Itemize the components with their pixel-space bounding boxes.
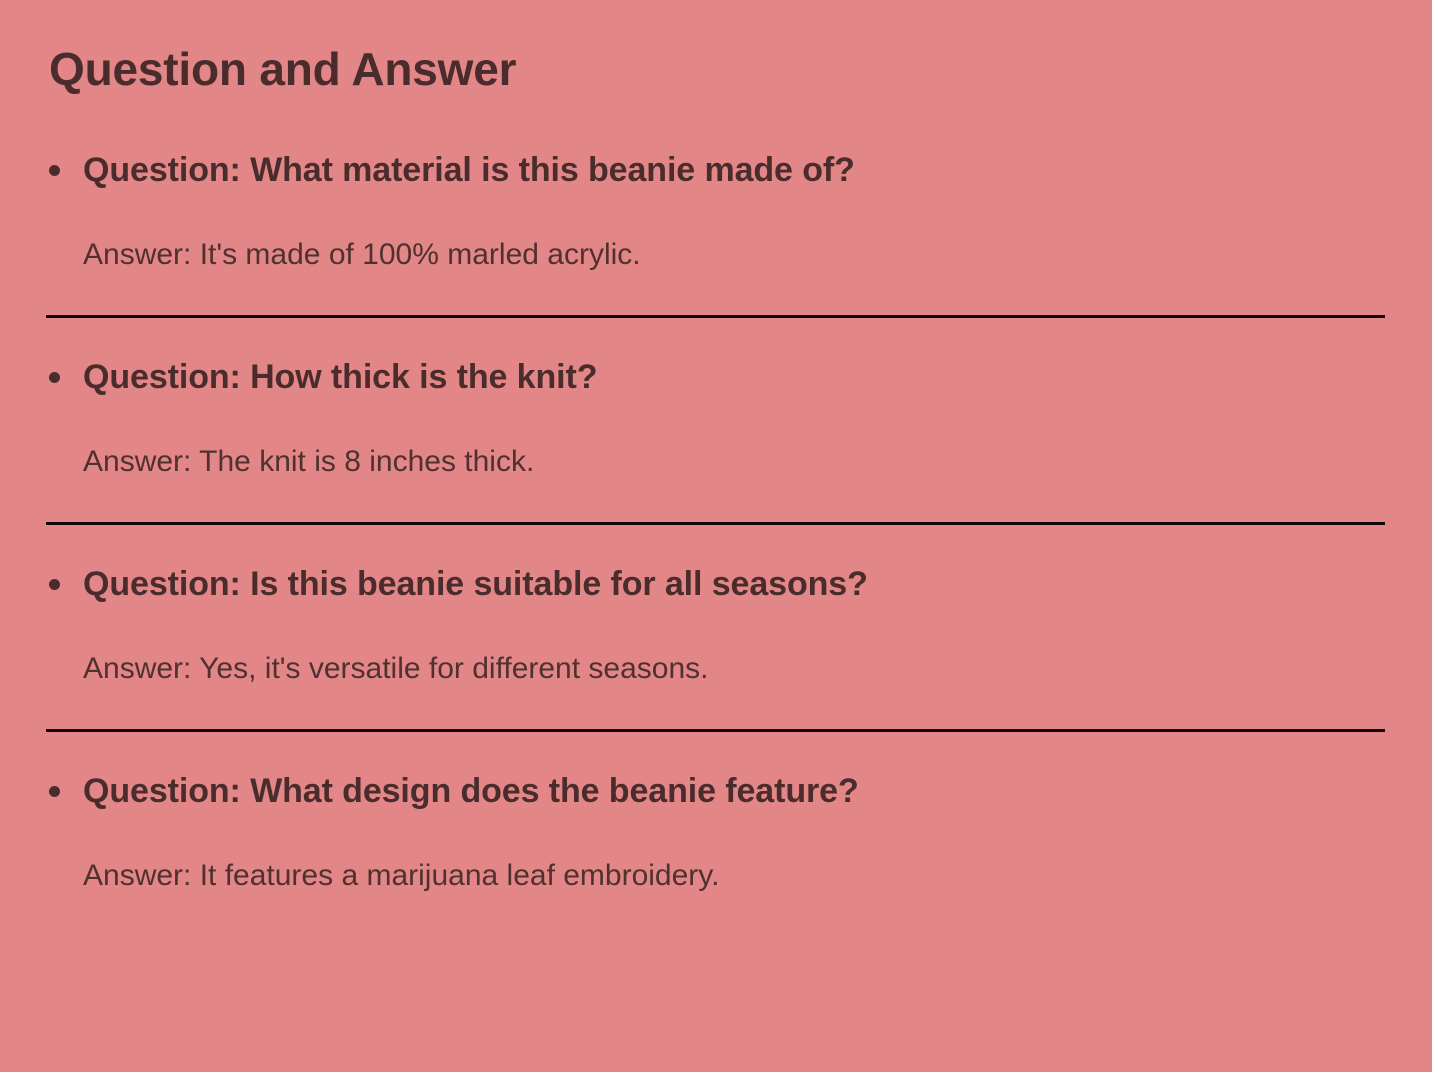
qa-question-text: Question: What material is this beanie m… — [83, 148, 1392, 193]
bullet-dot-icon — [49, 579, 60, 590]
qa-divider — [46, 729, 1385, 732]
qa-item: Question: What design does the beanie fe… — [0, 769, 1432, 895]
bullet-dot-icon — [49, 165, 60, 176]
qa-list: Question: What material is this beanie m… — [0, 148, 1432, 895]
qa-question-row: Question: How thick is the knit? — [0, 355, 1432, 400]
qa-answer-text: Answer: It features a marijuana leaf emb… — [83, 856, 1392, 895]
bullet-dot-icon — [49, 372, 60, 383]
qa-page: Question and Answer Question: What mater… — [0, 0, 1432, 1072]
qa-answer-text: Answer: Yes, it's versatile for differen… — [83, 649, 1392, 688]
qa-question-text: Question: What design does the beanie fe… — [83, 769, 1392, 814]
qa-item: Question: What material is this beanie m… — [0, 148, 1432, 318]
qa-question-row: Question: What material is this beanie m… — [0, 148, 1432, 193]
page-title: Question and Answer — [49, 44, 516, 96]
qa-answer-text: Answer: The knit is 8 inches thick. — [83, 442, 1392, 481]
qa-question-text: Question: Is this beanie suitable for al… — [83, 562, 1392, 607]
qa-item: Question: Is this beanie suitable for al… — [0, 562, 1432, 732]
qa-answer-text: Answer: It's made of 100% marled acrylic… — [83, 235, 1392, 274]
bullet-dot-icon — [49, 786, 60, 797]
qa-question-row: Question: Is this beanie suitable for al… — [0, 562, 1432, 607]
qa-divider — [46, 522, 1385, 525]
qa-item: Question: How thick is the knit? Answer:… — [0, 355, 1432, 525]
qa-question-text: Question: How thick is the knit? — [83, 355, 1392, 400]
qa-divider — [46, 315, 1385, 318]
qa-question-row: Question: What design does the beanie fe… — [0, 769, 1432, 814]
